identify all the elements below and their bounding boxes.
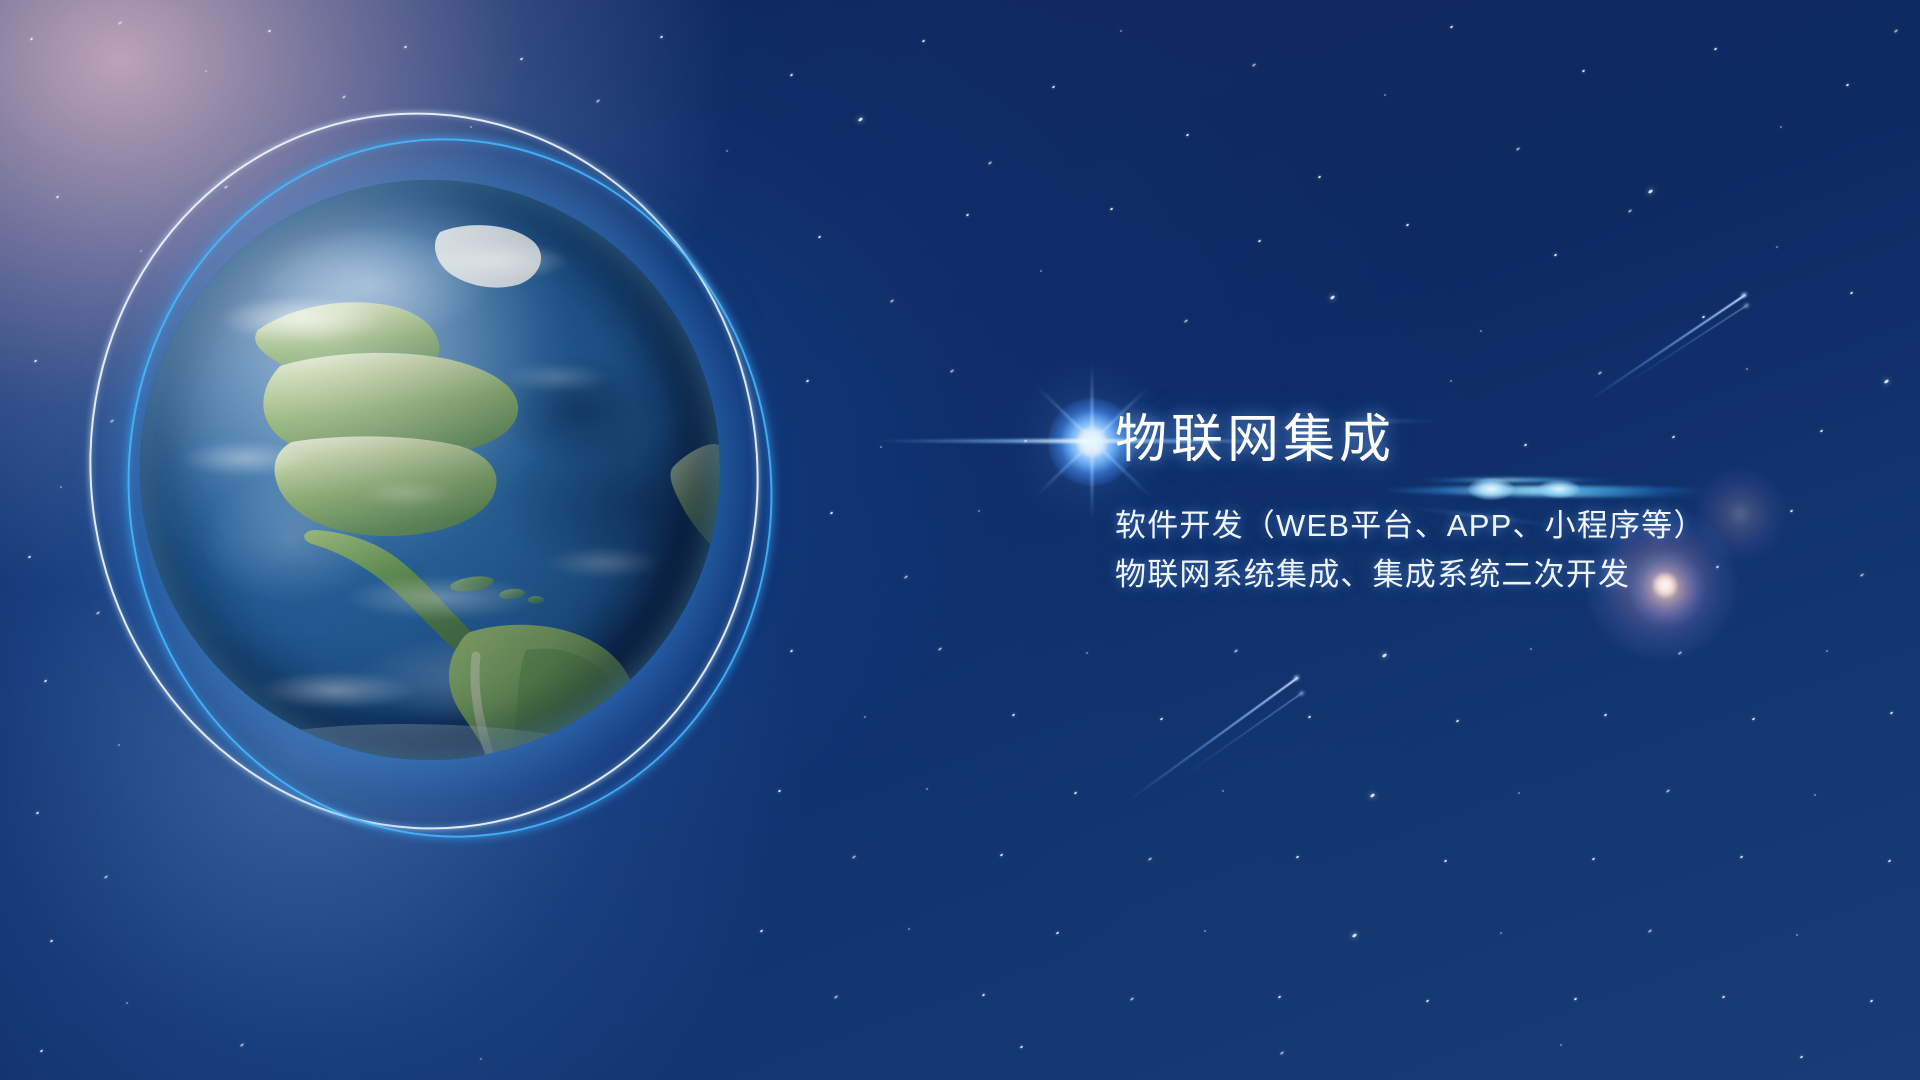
subtitle-line-1: 软件开发（WEB平台、APP、小程序等） <box>1115 502 1835 551</box>
subtitle-list: 软件开发（WEB平台、APP、小程序等） 物联网系统集成、集成系统二次开发 <box>1115 502 1835 600</box>
subtitle-line-2: 物联网系统集成、集成系统二次开发 <box>1115 551 1835 600</box>
hero-banner: 物联网集成 软件开发（WEB平台、APP、小程序等） 物联网系统集成、集成系统二… <box>0 0 1920 1080</box>
page-title: 物联网集成 <box>1115 414 1835 466</box>
banner-copy: 物联网集成 软件开发（WEB平台、APP、小程序等） 物联网系统集成、集成系统二… <box>1115 414 1835 600</box>
